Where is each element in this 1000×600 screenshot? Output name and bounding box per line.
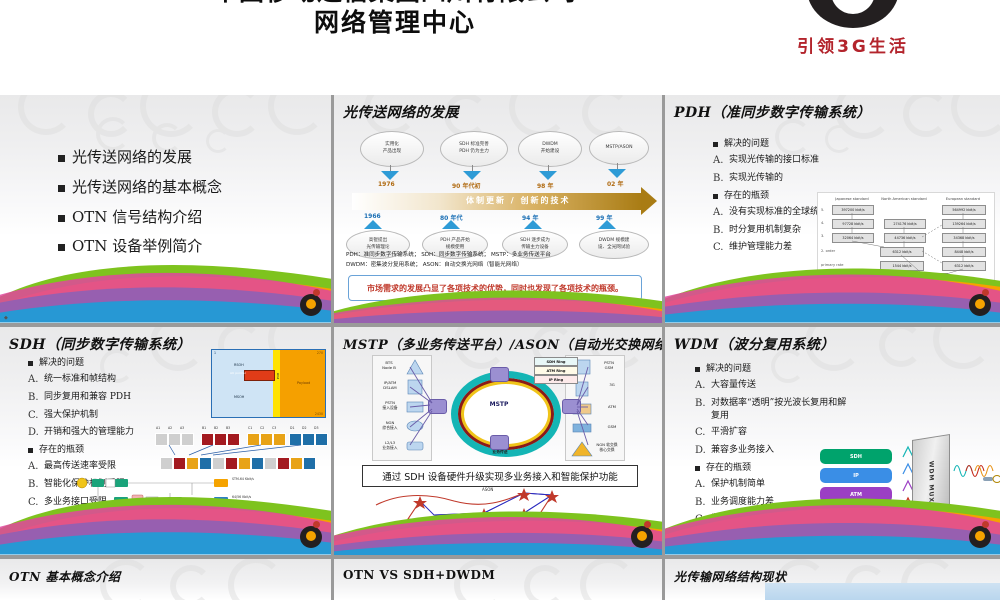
timeline-event-top-2: SDH 标准完善 PDH 仍为主力 [440, 131, 508, 167]
slide-wdm[interactable]: WDM（波分复用系统） 解决的问题 A.大容量传送 B.对数据率“透明”按光波长… [665, 327, 1000, 555]
department-name: 网络管理中心 [0, 6, 790, 40]
acronym-legend: PDH：准同步数字传输系统； SDH：同步数字传输系统； MSTP：多业务传送平… [346, 251, 551, 271]
decorative-waves [665, 477, 1000, 555]
list-item[interactable]: B.对数据率“透明”按光波长复用和解复用 [695, 397, 850, 423]
timeline-marker-icon [381, 171, 399, 180]
header-banner: 中国移动通信集团四川有限公司 网络管理中心 引领3G生活 [0, 0, 1000, 95]
banner-titles: 中国移动通信集团四川有限公司 网络管理中心 [0, 0, 790, 40]
ason-label: ASON [482, 487, 493, 492]
bullet-square-icon [28, 448, 33, 453]
legend-line: PDH：准同步数字传输系统； SDH：同步数字传输系统； MSTP：多业务传送平… [346, 251, 551, 261]
list-item[interactable]: A.实现光传输的接口标准 [713, 154, 883, 169]
logo-watermark-icon [300, 294, 322, 316]
mstp-ring-diagram: BTS Node B IP/ATM DSLAM PSTN 接入设备 NGN 综合… [372, 355, 625, 459]
decorative-waves [0, 245, 331, 323]
list-item[interactable]: A.大容量传送 [695, 379, 850, 394]
list-item[interactable]: C.平滑扩容 [695, 426, 850, 441]
list-item[interactable]: 光传送网络的发展 [58, 147, 222, 169]
timeline-year-top-1: 1976 [378, 181, 395, 188]
timeline-marker-icon [463, 171, 481, 180]
timeline-event-top-3: DWDM 开始建设 [518, 131, 582, 167]
slide-title: 光传送网络的发展 [343, 102, 459, 122]
timeline-year-top-3: 98 年 [537, 181, 553, 190]
list-item[interactable]: A.统一标准和帧结构 [28, 373, 193, 388]
timeline-year-top-2: 90 年代初 [452, 181, 480, 190]
bullet-square-icon [28, 361, 33, 366]
decorative-waves [334, 496, 662, 555]
list-item[interactable]: B.实现光传输的 [713, 172, 883, 187]
slide-title: OTN 基本概念介绍 [9, 568, 121, 585]
slide-title: WDM（波分复用系统） [674, 334, 835, 354]
logo-watermark-icon [969, 526, 991, 548]
slide-title: OTN VS SDH+DWDM [343, 568, 495, 582]
bullet-square-icon [713, 194, 718, 199]
list-item[interactable]: B.同步复用和兼容 PDH [28, 391, 193, 406]
decorative-waves [0, 477, 331, 555]
logo-slogan: 引领3G生活 [758, 32, 948, 57]
slide-otn-basic[interactable]: OTN 基本概念介绍 [0, 559, 331, 600]
timeline-event-top-1: 实用化 产品出现 [360, 131, 424, 167]
list-item[interactable]: 解决的问题 [28, 357, 193, 370]
bullet-square-icon [58, 215, 65, 222]
bullet-square-icon [58, 155, 65, 162]
slide-sdh[interactable]: SDH（同步数字传输系统） 解决的问题 A.统一标准和帧结构 B.同步复用和兼容… [0, 327, 331, 555]
slide-title: MSTP（多业务传送平台）/ASON（自动光交换网络） [343, 334, 662, 353]
slide-title: PDH（准同步数字传输系统） [674, 102, 871, 122]
timeline-event-bottom-4: DWDM 规模建 设、全光网试验 [579, 230, 649, 259]
brand-logo: 引领3G生活 [758, 0, 948, 57]
slide-pdh[interactable]: PDH（准同步数字传输系统） 解决的问题 A.实现光传输的接口标准 B.实现光传… [665, 95, 1000, 323]
timeline-marker-icon [608, 169, 626, 178]
bullet-square-icon [58, 185, 65, 192]
timeline-arrow-label: 体制更新 / 创新的技术 [466, 195, 571, 206]
timeline-marker-icon [364, 220, 382, 229]
legend-line: DWDM：密集波分复用系统； ASON：自动交换光网络（智能光网络） [346, 261, 551, 271]
list-item[interactable]: 光传送网络的基本概念 [58, 177, 222, 199]
logo-watermark-icon [631, 526, 653, 548]
slide-transport-network-status[interactable]: 光传输网络结构现状 [665, 559, 1000, 600]
decorative-waves [334, 273, 662, 323]
slide-agenda[interactable]: 光传送网络的发展 光传送网络的基本概念 OTN 信号结构介绍 OTN 设备举例简… [0, 95, 331, 323]
slide-grid-page: 中国移动通信集团四川有限公司 网络管理中心 引领3G生活 光传送网络的发展 [0, 0, 1000, 600]
china-mobile-logo-icon [807, 0, 899, 28]
sdh-soh-region [212, 350, 274, 417]
logo-watermark-icon [969, 294, 991, 316]
wdm-service-sdh: SDH [820, 449, 892, 464]
mstp-caption: 通过 SDH 设备硬件升级实现多业务接入和智能保护功能 [362, 465, 638, 487]
slide-otn-vs-sdh-dwdm[interactable]: OTN VS SDH+DWDM [334, 559, 662, 600]
timeline-marker-icon [539, 171, 557, 180]
timeline-event-top-4: MSTP/ASON [589, 131, 649, 165]
sdh-byte-interleaving: A1 A2 A3 B1 B2 B3 C1 C2 C3 D1 [155, 425, 325, 473]
list-item[interactable]: C.强大保护机制 [28, 409, 193, 424]
list-item[interactable]: 解决的问题 [695, 363, 850, 376]
logo-watermark-icon [300, 526, 322, 548]
page-number: ◆ [4, 315, 8, 321]
bullet-square-icon [695, 466, 700, 471]
evolution-timeline: 实用化 产品出现 SDH 标准完善 PDH 仍为主力 DWDM 开始建设 MST… [346, 129, 652, 259]
list-item[interactable]: OTN 信号结构介绍 [58, 207, 222, 229]
sdh-au-pointer [244, 370, 275, 381]
bullet-square-icon [695, 367, 700, 372]
slides-grid: 光传送网络的发展 光传送网络的基本概念 OTN 信号结构介绍 OTN 设备举例简… [0, 95, 1000, 600]
timeline-arrow-head-icon [641, 187, 657, 215]
sdh-frame-structure: RSOH AU pointer MSOH POH Payload 1 270 2… [211, 349, 326, 418]
slide-title: SDH（同步数字传输系统） [9, 334, 191, 354]
timeline-year-bottom-1: 1966 [364, 213, 381, 220]
decorative-waves [665, 245, 1000, 323]
slide-optical-network-evolution[interactable]: 光传送网络的发展 实用化 产品出现 SDH 标准完善 PDH 仍为主力 DWDM… [334, 95, 662, 323]
timeline-year-top-4: 02 年 [607, 179, 623, 188]
timeline-marker-icon [524, 220, 542, 229]
bullet-square-icon [713, 142, 718, 147]
slide-photo-placeholder [765, 583, 1000, 600]
timeline-marker-icon [442, 220, 460, 229]
list-item[interactable]: 解决的问题 [713, 138, 883, 151]
timeline-marker-icon [598, 220, 616, 229]
slide-mstp-ason[interactable]: MSTP（多业务传送平台）/ASON（自动光交换网络） BTS Node B I… [334, 327, 662, 555]
